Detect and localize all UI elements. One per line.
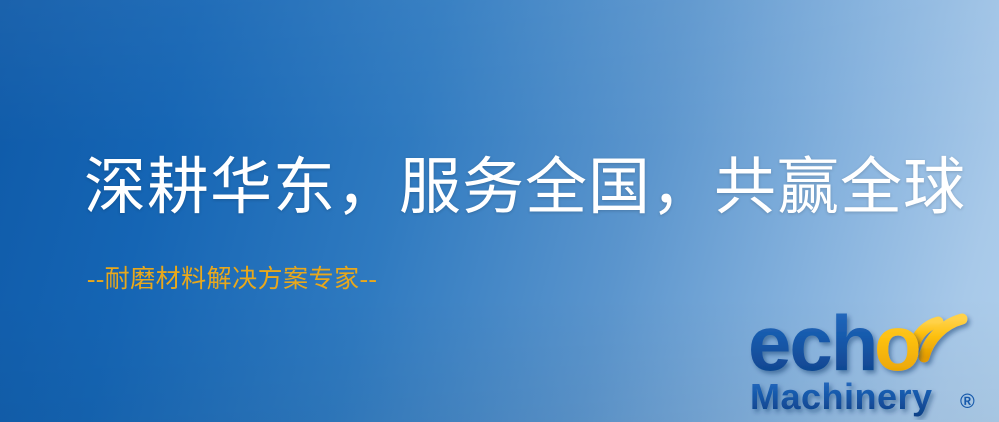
echo-machinery-logo[interactable]: ech o Machinery ® [748, 294, 996, 420]
logo-wordmark-ech: ech [748, 299, 876, 387]
banner-subtitle: --耐磨材料解决方案专家-- [87, 266, 377, 294]
logo-tagline: Machinery [750, 376, 933, 417]
hero-banner: 深耕华东，服务全国，共赢全球 --耐磨材料解决方案专家-- [0, 0, 999, 422]
banner-headline: 深耕华东，服务全国，共赢全球 [84, 155, 966, 222]
registered-trademark-icon: ® [960, 391, 975, 413]
logo-wordmark-o: o [874, 299, 922, 387]
